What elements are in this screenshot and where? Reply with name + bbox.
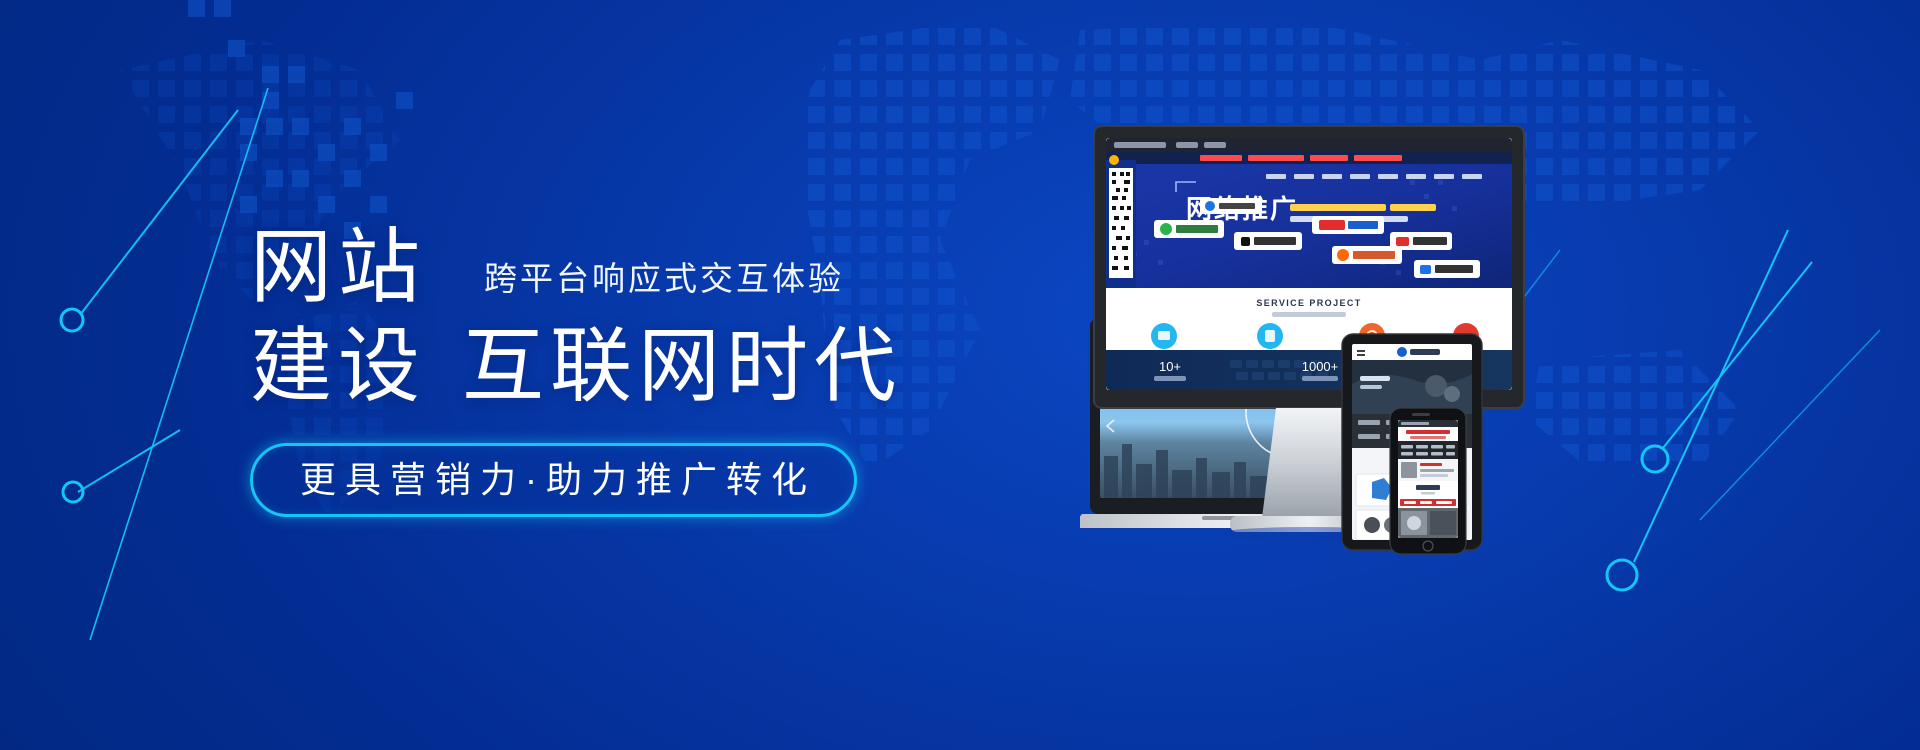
svg-text:SERVICE PROJECT: SERVICE PROJECT xyxy=(1256,298,1361,308)
svg-text:1000+: 1000+ xyxy=(1302,359,1339,374)
phone-mockup xyxy=(1390,408,1466,554)
hero-banner: 网站 跨平台响应式交互体验 建设互联网时代 更具营销力·助力推广转化 xyxy=(0,0,1920,750)
headline-line-1: 网站 跨平台响应式交互体验 xyxy=(250,215,890,311)
headline-subtitle: 跨平台响应式交互体验 xyxy=(484,259,844,311)
headline-line-2-rest: 互联网时代 xyxy=(462,321,902,412)
device-mockup-cluster: 芬瑞特 xyxy=(1080,120,1880,640)
hero-copy: 网站 跨平台响应式交互体验 建设互联网时代 更具营销力·助力推广转化 xyxy=(250,215,890,517)
tagline-badge-label: 更具营销力·助力推广转化 xyxy=(291,460,816,500)
headline-keyword-primary: 网站 xyxy=(250,225,426,311)
headline-keyword-secondary: 建设 xyxy=(250,321,426,412)
svg-text:10+: 10+ xyxy=(1159,359,1181,374)
headline-line-2: 建设互联网时代 xyxy=(250,319,890,415)
tagline-badge[interactable]: 更具营销力·助力推广转化 xyxy=(250,443,857,517)
